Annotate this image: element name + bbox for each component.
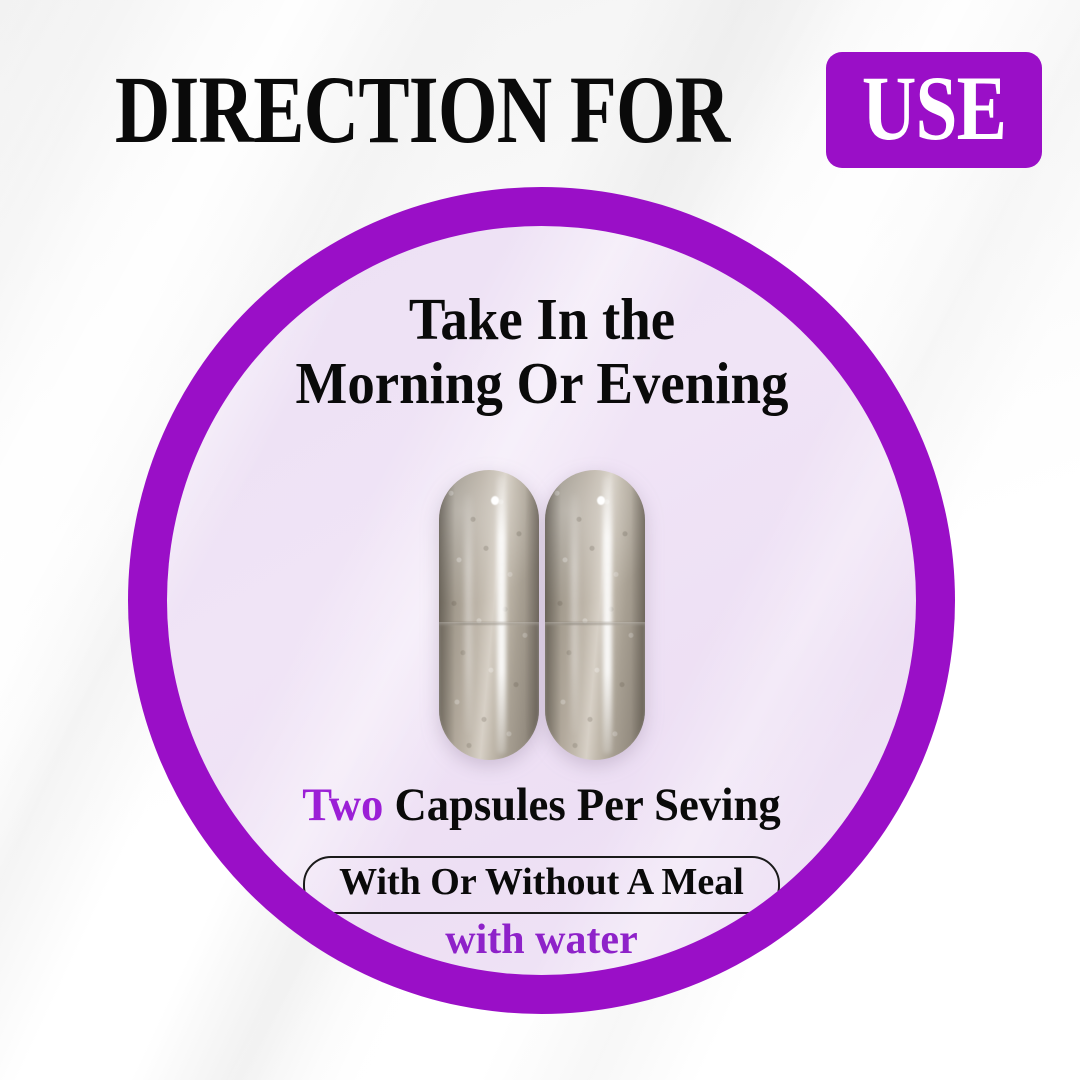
capsule-right <box>545 470 645 760</box>
capsule-specular-dot <box>491 496 499 505</box>
water-label: with water <box>167 919 916 961</box>
meal-pill-label: With Or Without A Meal <box>303 856 780 914</box>
serving-highlight: Two <box>302 779 383 831</box>
circle-content: Take In the Morning Or Evening <box>167 226 916 975</box>
serving-rest: Capsules Per Seving <box>383 779 780 831</box>
serving-line: Two Capsules Per Seving <box>186 782 898 829</box>
headline-line-1: Take In the <box>295 288 788 352</box>
headline-line-2: Morning Or Evening <box>295 352 788 416</box>
capsule-body <box>439 622 539 760</box>
meal-pill-wrap: With Or Without A Meal <box>167 856 916 914</box>
headline: Take In the Morning Or Evening <box>295 288 788 415</box>
poster-canvas: DIRECTION FOR USE Take In the Morning Or… <box>0 0 1080 1080</box>
capsule-body <box>545 622 645 760</box>
page-title: DIRECTION FOR <box>115 62 730 158</box>
use-badge: USE <box>826 52 1042 168</box>
use-badge-label: USE <box>862 62 1006 154</box>
capsule-group <box>167 470 916 760</box>
capsule-left <box>439 470 539 760</box>
purple-ring: Take In the Morning Or Evening <box>128 187 955 1014</box>
capsule-specular-dot <box>597 496 605 505</box>
header: DIRECTION FOR USE <box>0 52 1080 168</box>
circle-interior: Take In the Morning Or Evening <box>167 226 916 975</box>
